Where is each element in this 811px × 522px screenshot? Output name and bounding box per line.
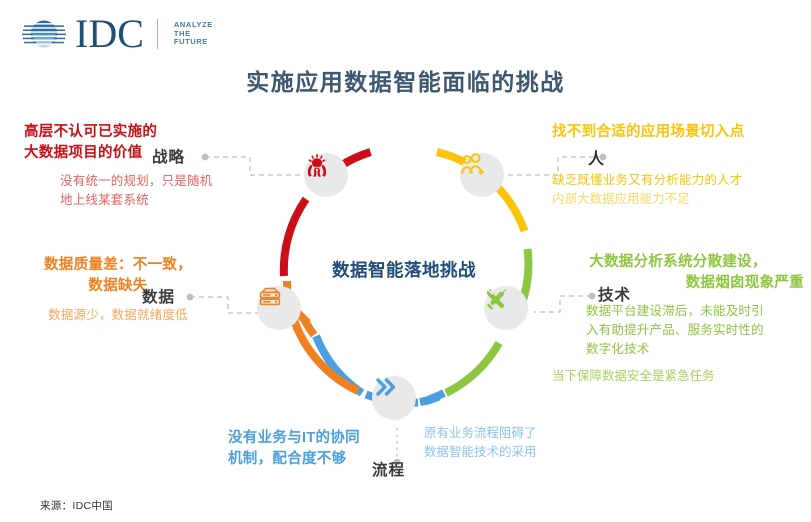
- process-sub: 原有业务流程阻碍了 数据智能技术的采用: [424, 424, 584, 462]
- tech-tag: 技术: [598, 283, 631, 305]
- strategy-sub-line2: 地上线某套系统: [24, 191, 234, 210]
- challenge-block-data: 数据质量差：不一致， 数据缺失 数据源少，数据就绪度低: [8, 255, 228, 325]
- slide-canvas: IDC ANALYZE THE FUTURE 实施应用数据智能面临的挑战: [0, 0, 811, 522]
- people-headline: 找不到合适的应用场景切入点: [552, 122, 797, 143]
- arc-data-lower: [305, 321, 314, 335]
- strategy-headline-line1: 高层不认可已实施的: [24, 122, 234, 143]
- strategy-tag: 战略: [152, 145, 185, 167]
- data-headline-line1: 数据质量差：不一致，: [8, 255, 228, 276]
- people-sub-line2: 内部大数据应用能力不足: [552, 190, 797, 209]
- add-people-icon: [460, 153, 486, 177]
- challenge-block-tech: 大数据分析系统分散建设， 数据烟囱现象严重 数据平台建设滞后，未能及时引 入有助…: [552, 252, 804, 386]
- tech-sub-line4: 当下保障数据安全是紧急任务: [552, 367, 804, 386]
- process-headline-line1: 没有业务与IT的协同: [228, 428, 428, 449]
- challenge-ring: 数据智能落地挑战: [258, 131, 550, 423]
- arc-tech-lower: [446, 343, 499, 393]
- ring-node-data[interactable]: [257, 286, 301, 330]
- tech-headline-line2: 数据烟囱现象严重: [552, 273, 804, 294]
- strategy-sub-line1: 没有统一的规划，只是随机: [24, 172, 234, 191]
- ring-node-tech[interactable]: [484, 286, 528, 330]
- data-sub-line1: 数据源少，数据就绪度低: [8, 306, 228, 325]
- server-stack-icon: [257, 286, 283, 310]
- tech-headline-line1: 大数据分析系统分散建设，: [552, 252, 804, 273]
- ring-node-process[interactable]: [372, 376, 416, 420]
- ring-node-strategy[interactable]: [304, 153, 348, 197]
- ring-node-people[interactable]: [460, 153, 504, 197]
- people-sub-line1: 缺乏既懂业务又有分析能力的人才: [552, 171, 797, 190]
- double-chevron-right-icon: [372, 376, 398, 398]
- people-tag: 人: [588, 145, 797, 169]
- challenge-block-people: 找不到合适的应用场景切入点 人 缺乏既懂业务又有分析能力的人才 内部大数据应用能…: [552, 122, 797, 209]
- data-headline-line2: 数据缺失: [8, 276, 228, 297]
- hands-lightbulb-icon: [304, 153, 330, 179]
- process-tag: 流程: [372, 458, 405, 480]
- strategy-headline-line2: 大数据项目的价值: [24, 143, 234, 164]
- tech-sub-line2: 入有助提升产品、服务实时性的: [552, 321, 804, 340]
- tech-sub-line1: 数据平台建设滞后，未能及时引: [552, 302, 804, 321]
- data-tag: 数据: [142, 285, 175, 307]
- process-sub-line1: 原有业务流程阻碍了: [424, 424, 584, 443]
- challenge-block-strategy: 高层不认可已实施的 大数据项目的价值 没有统一的规划，只是随机 地上线某套系统: [24, 122, 234, 210]
- tech-sub-line3: 数字化技术: [552, 340, 804, 359]
- process-sub-line2: 数据智能技术的采用: [424, 443, 584, 462]
- ring-center-label: 数据智能落地挑战: [258, 257, 550, 282]
- wrench-screwdriver-icon: [484, 286, 510, 312]
- source-note: 来源：IDC中国: [40, 498, 113, 513]
